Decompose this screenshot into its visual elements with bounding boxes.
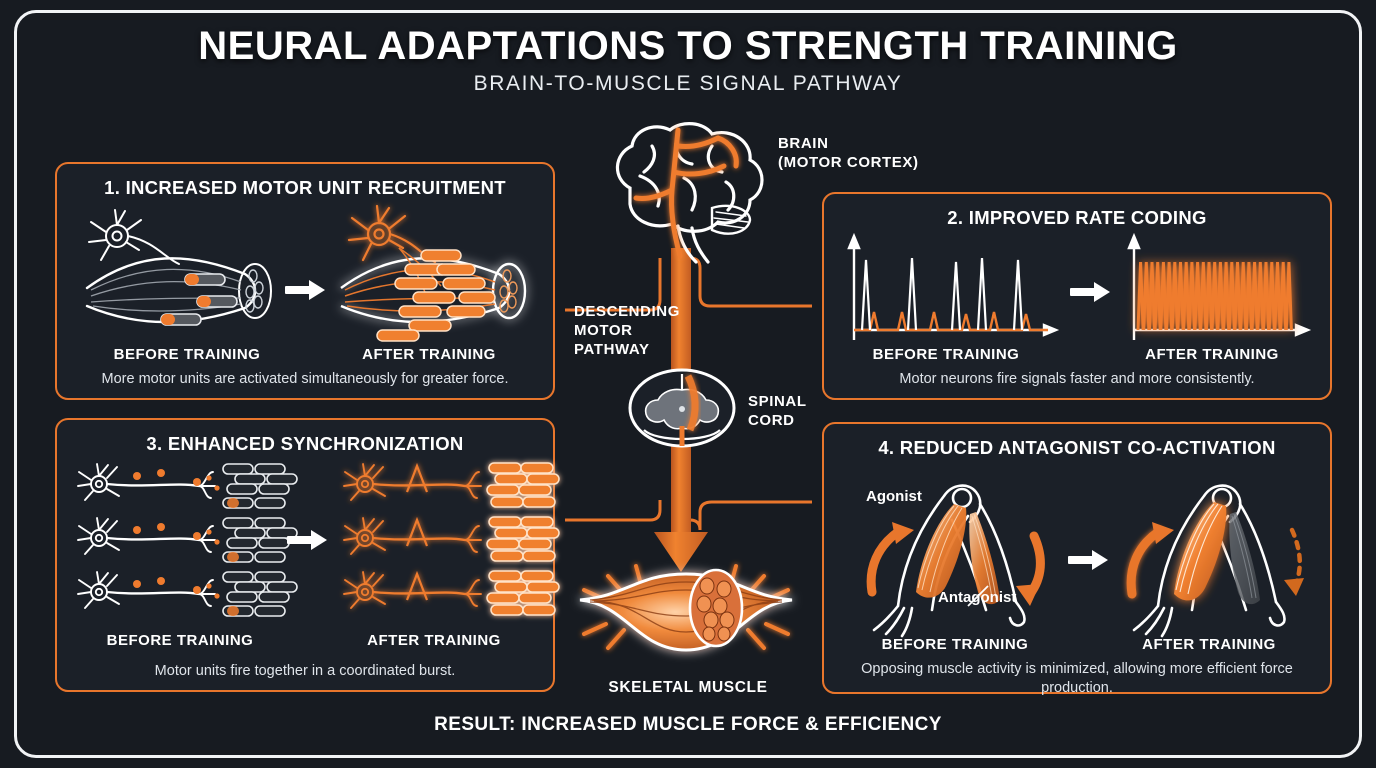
antagonist-label: Antagonist [938, 589, 1016, 606]
panel-rate-coding: 2. IMPROVED RATE CODING [822, 192, 1332, 400]
panel-4-title: 4. REDUCED ANTAGONIST CO-ACTIVATION [824, 437, 1330, 459]
panel-2-before-label: BEFORE TRAINING [846, 346, 1046, 363]
panel-motor-unit-recruitment: 1. INCREASED MOTOR UNIT RECRUITMENT [55, 162, 555, 400]
panel-1-before-label: BEFORE TRAINING [97, 346, 277, 363]
skeletal-muscle-icon [566, 556, 806, 664]
panel-4-caption: Opposing muscle activity is minimized, a… [832, 660, 1322, 698]
panel-3-diagram [71, 458, 545, 624]
transition-arrow-icon [1070, 282, 1110, 302]
panel-3-title: 3. ENHANCED SYNCHRONIZATION [57, 433, 553, 455]
panel-3-after-label: AFTER TRAINING [339, 632, 529, 649]
panel-antagonist-coactivation: 4. REDUCED ANTAGONIST CO-ACTIVATION [822, 422, 1332, 694]
panel-1-caption: More motor units are activated simultane… [65, 370, 545, 389]
transition-arrow-icon [1068, 550, 1108, 570]
spinal-cord-label: SPINAL CORD [748, 392, 807, 430]
agonist-label: Agonist [866, 488, 922, 505]
brain-icon [600, 116, 790, 266]
panel-2-after-label: AFTER TRAINING [1112, 346, 1312, 363]
panel-synchronization: 3. ENHANCED SYNCHRONIZATION BEFORE TRAIN… [55, 418, 555, 692]
panel-2-title: 2. IMPROVED RATE CODING [824, 207, 1330, 229]
panel-1-diagram [69, 202, 545, 342]
panel-2-chart [842, 230, 1320, 356]
panel-1-after-label: AFTER TRAINING [339, 346, 519, 363]
panel-3-before-label: BEFORE TRAINING [85, 632, 275, 649]
panel-4-diagram [840, 460, 1320, 638]
footer-result: RESULT: INCREASED MUSCLE FORCE & EFFICIE… [0, 714, 1376, 736]
panel-3-caption: Motor units fire together in a coordinat… [65, 662, 545, 681]
brain-label: BRAIN (MOTOR CORTEX) [778, 134, 919, 172]
panel-2-caption: Motor neurons fire signals faster and mo… [832, 370, 1322, 389]
descending-pathway-label: DESCENDING MOTOR PATHWAY [574, 302, 680, 359]
panel-1-title: 1. INCREASED MOTOR UNIT RECRUITMENT [57, 177, 553, 199]
transition-arrow-icon [285, 280, 325, 300]
panel-4-before-label: BEFORE TRAINING [860, 636, 1050, 653]
infographic-canvas: NEURAL ADAPTATIONS TO STRENGTH TRAINING … [0, 0, 1376, 768]
spinal-cord-icon [626, 368, 738, 448]
panel-4-after-label: AFTER TRAINING [1114, 636, 1304, 653]
